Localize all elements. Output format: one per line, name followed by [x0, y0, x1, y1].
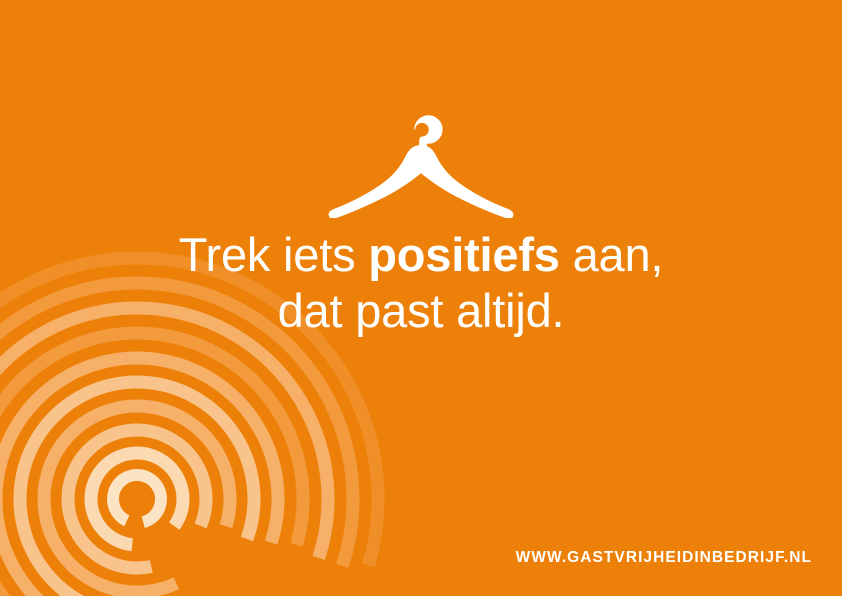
headline: Trek iets positiefs aan, dat past altijd… [0, 227, 842, 339]
ripple-arc-7 [0, 308, 328, 596]
headline-line-2: dat past altijd. [0, 283, 842, 339]
ripple-arc-4 [20, 382, 254, 596]
headline-line-1-suffix: aan, [560, 228, 664, 281]
clothes-hanger-icon [324, 96, 518, 218]
ripple-arc-5 [0, 358, 278, 596]
headline-line-1-prefix: Trek iets [179, 228, 369, 281]
headline-emphasis-word: positiefs [368, 228, 559, 281]
poster-canvas: Trek iets positiefs aan, dat past altijd… [0, 0, 842, 596]
ripple-arc-3 [44, 406, 230, 592]
ripple-arc-0 [113, 475, 161, 522]
headline-line-1: Trek iets positiefs aan, [0, 227, 842, 283]
website-url[interactable]: WWW.GASTVRIJHEIDINBEDRIJF.NL [516, 549, 812, 567]
ripple-arc-6 [0, 333, 303, 596]
ripple-arc-2 [68, 430, 206, 568]
ripple-arc-1 [91, 453, 183, 545]
